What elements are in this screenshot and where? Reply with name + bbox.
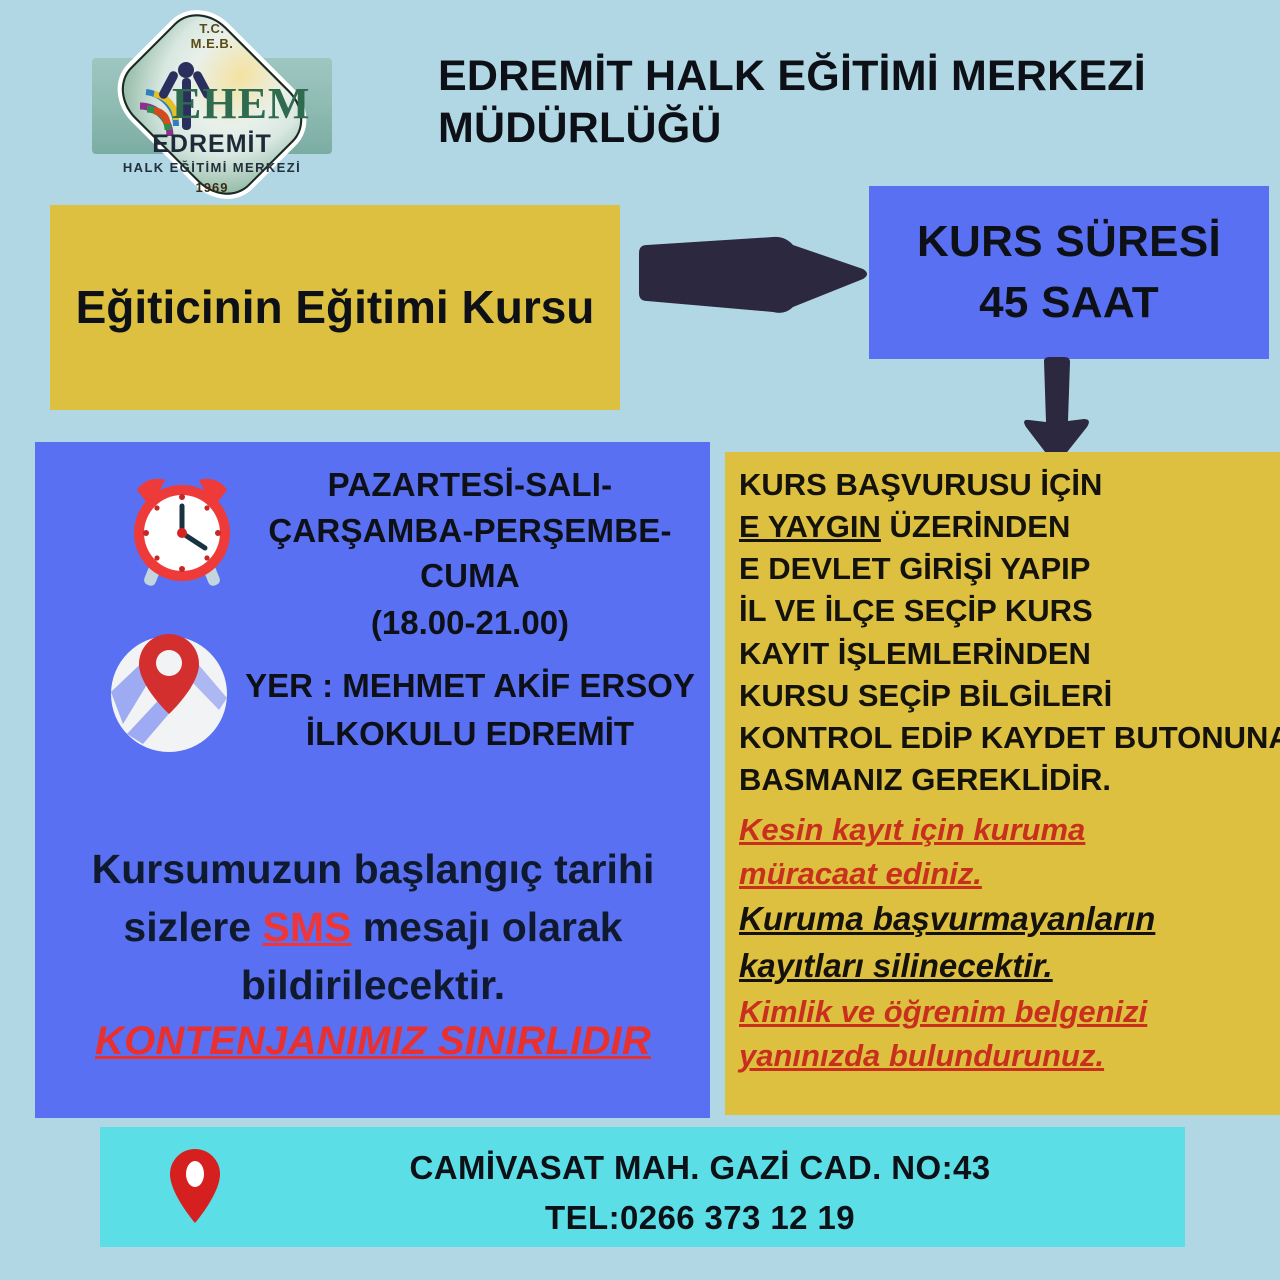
note-registration-line2: müracaat ediniz. <box>739 852 1280 896</box>
logo-institution: HALK EĞİTİMİ MERKEZİ <box>123 160 301 175</box>
schedule-days: PAZARTESİ-SALI-ÇARŞAMBA-PERŞEMBE-CUMA <box>245 462 695 599</box>
step-line-2-rest: ÜZERİNDEN <box>881 509 1070 544</box>
application-steps-list: KURS BAŞVURUSU İÇİN E YAYGIN ÜZERİNDEN E… <box>739 464 1280 801</box>
address-bar: CAMİVASAT MAH. GAZİ CAD. NO:43 TEL:0266 … <box>100 1127 1185 1247</box>
step-line-7: KONTROL EDİP KAYDET BUTONUNA <box>739 717 1280 759</box>
page-title: EDREMİT HALK EĞİTİMİ MERKEZİ MÜDÜRLÜĞÜ <box>438 50 1198 155</box>
logo-acronym: EHEM <box>172 78 310 129</box>
page-title-line1: EDREMİT HALK EĞİTİMİ MERKEZİ <box>438 52 1146 100</box>
note-deletion-line1: Kuruma başvurmayanların <box>739 896 1280 943</box>
schedule-place: YER : MEHMET AKİF ERSOY İLKOKULU EDREMİT <box>245 662 695 758</box>
step-line-4: İL VE İLÇE SEÇİP KURS <box>739 590 1280 632</box>
step-line-3: E DEVLET GİRİŞİ YAPIP <box>739 548 1280 590</box>
map-pin-icon <box>166 1147 224 1225</box>
schedule-panel: PAZARTESİ-SALI-ÇARŞAMBA-PERŞEMBE-CUMA (1… <box>35 442 710 1118</box>
address-line: CAMİVASAT MAH. GAZİ CAD. NO:43 <box>250 1143 1150 1193</box>
course-duration-box: KURS SÜRESİ 45 SAAT <box>869 186 1269 359</box>
step-line-8: BASMANIZ GEREKLİDİR. <box>739 759 1280 801</box>
schedule-hours: (18.00-21.00) <box>245 599 695 647</box>
arrow-down-icon <box>1020 357 1092 465</box>
quota-notice: KONTENJANIMIZ SINIRLIDIR <box>49 1019 697 1064</box>
logo-town: EDREMİT <box>152 130 272 159</box>
note-documents-line2: yanınızda bulundurunuz. <box>739 1034 1280 1078</box>
institution-logo: T.C. M.E.B. EHEM EDREMİT HALK EĞİTİMİ ME… <box>92 12 332 197</box>
poster-canvas: T.C. M.E.B. EHEM EDREMİT HALK EĞİTİMİ ME… <box>0 0 1280 1280</box>
sms-keyword: SMS <box>262 904 351 950</box>
course-title-text: Eğiticinin Eğitimi Kursu <box>76 276 595 338</box>
sms-notice-block: Kursumuzun başlangıç tarihi sizlere SMS … <box>49 840 697 1064</box>
schedule-text: PAZARTESİ-SALI-ÇARŞAMBA-PERŞEMBE-CUMA (1… <box>245 462 695 758</box>
address-text: CAMİVASAT MAH. GAZİ CAD. NO:43 TEL:0266 … <box>250 1143 1150 1242</box>
logo-tc-line: T.C. <box>191 22 234 37</box>
logo-meb-line: M.E.B. <box>191 37 234 52</box>
duration-label: KURS SÜRESİ <box>917 212 1221 273</box>
step-line-6: KURSU SEÇİP BİLGİLERİ <box>739 675 1280 717</box>
page-title-line2: MÜDÜRLÜĞÜ <box>438 102 1198 154</box>
logo-figure-head <box>178 62 194 78</box>
map-location-icon <box>97 614 247 764</box>
logo-year: 1969 <box>196 180 229 195</box>
note-documents-line1: Kimlik ve öğrenim belgenizi <box>739 990 1280 1034</box>
course-title-box: Eğiticinin Eğitimi Kursu <box>50 205 620 410</box>
eyaygin-keyword: E YAYGIN <box>739 509 881 544</box>
step-line-5: KAYIT İŞLEMLERİNDEN <box>739 633 1280 675</box>
phone-line: TEL:0266 373 12 19 <box>250 1193 1150 1243</box>
logo-ministry-text: T.C. M.E.B. <box>191 22 234 52</box>
arrow-right-icon <box>633 227 871 319</box>
step-line-2: E YAYGIN ÜZERİNDEN <box>739 506 1280 548</box>
duration-value: 45 SAAT <box>979 273 1159 334</box>
step-line-1: KURS BAŞVURUSU İÇİN <box>739 464 1280 506</box>
application-notes: Kesin kayıt için kuruma müracaat ediniz.… <box>739 808 1280 1078</box>
application-steps-panel: KURS BAŞVURUSU İÇİN E YAYGIN ÜZERİNDEN E… <box>725 452 1280 1115</box>
sms-notice: Kursumuzun başlangıç tarihi sizlere SMS … <box>49 840 697 1015</box>
alarm-clock-icon <box>117 464 247 594</box>
note-registration-line1: Kesin kayıt için kuruma <box>739 808 1280 852</box>
note-deletion-line2: kayıtları silinecektir. <box>739 943 1280 990</box>
